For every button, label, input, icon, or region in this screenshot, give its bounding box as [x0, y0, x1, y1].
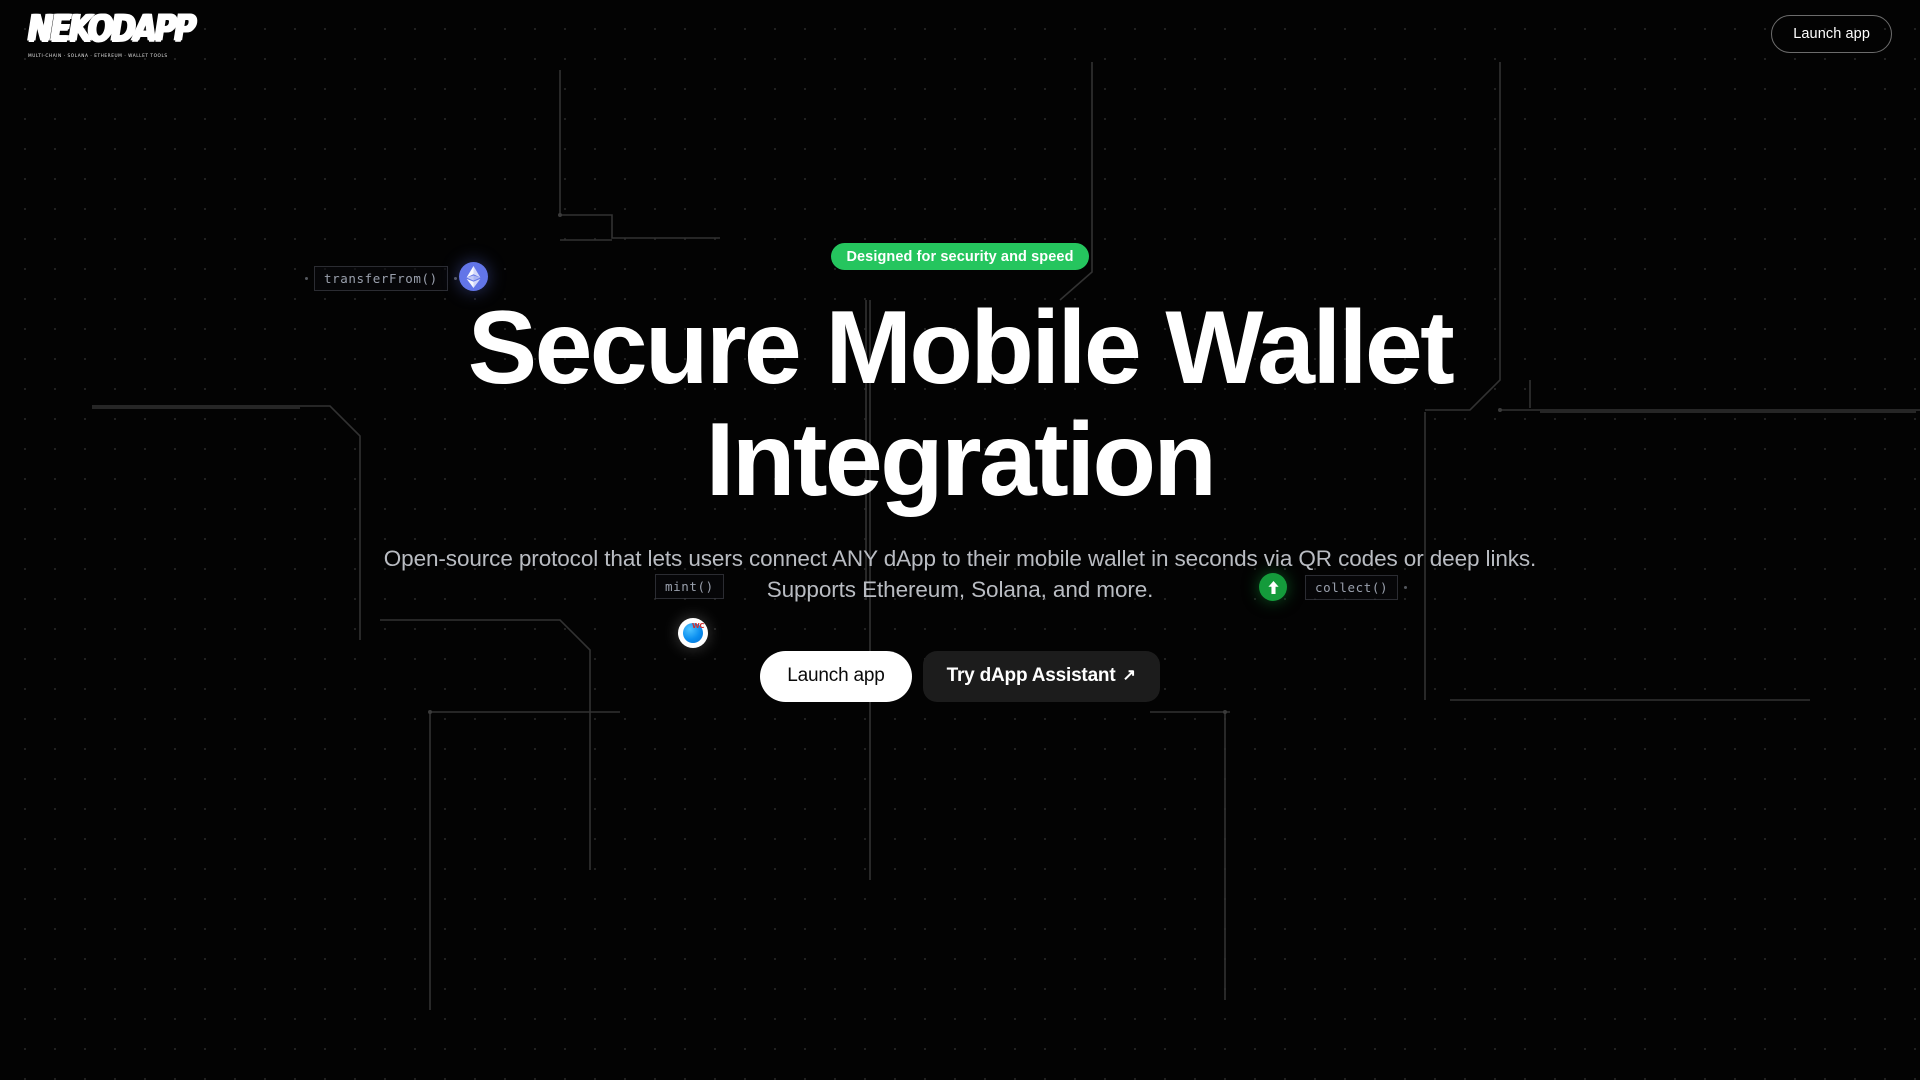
- brand-tagline: MULTI-CHAIN · SOLANA · ETHEREUM · WALLET…: [28, 54, 205, 58]
- brand-logo[interactable]: NEKODAPP MULTI-CHAIN · SOLANA · ETHEREUM…: [28, 10, 201, 58]
- ethereum-icon: [459, 262, 488, 291]
- dot-grid-background: [0, 0, 1920, 1080]
- hero-section: Designed for security and speed Secure M…: [0, 0, 1920, 1080]
- wallet-node: WC: [678, 618, 708, 648]
- chip-dot-left-icon: [305, 277, 308, 280]
- code-chip-label: transferFrom(): [314, 266, 448, 291]
- launch-app-header-button[interactable]: Launch app: [1771, 15, 1892, 53]
- circuit-trace-background: [0, 0, 1920, 1080]
- ethereum-node: [459, 262, 488, 291]
- wallet-node-icon: WC: [678, 618, 708, 648]
- site-header: NEKODAPP MULTI-CHAIN · SOLANA · ETHEREUM…: [0, 0, 1920, 68]
- brand-wordmark: NEKODAPP: [28, 11, 194, 48]
- chip-dot-right-icon: [454, 277, 457, 280]
- landing-page: NEKODAPP MULTI-CHAIN · SOLANA · ETHEREUM…: [0, 0, 1920, 1080]
- status-badge: Designed for security and speed: [831, 243, 1088, 270]
- hero-subtitle: Open-source protocol that lets users con…: [378, 543, 1543, 605]
- arrow-up-right-icon: ↗: [1122, 668, 1135, 684]
- try-dapp-assistant-button[interactable]: Try dApp Assistant ↗: [923, 651, 1160, 702]
- try-dapp-assistant-label: Try dApp Assistant: [947, 665, 1116, 687]
- launch-app-button[interactable]: Launch app: [760, 651, 911, 702]
- floating-chip-transferfrom: transferFrom(): [305, 266, 457, 291]
- wallet-node-mark: WC: [692, 622, 704, 630]
- page-title: Secure Mobile Wallet Integration: [400, 292, 1520, 517]
- cta-button-row: Launch app Try dApp Assistant ↗: [760, 651, 1159, 702]
